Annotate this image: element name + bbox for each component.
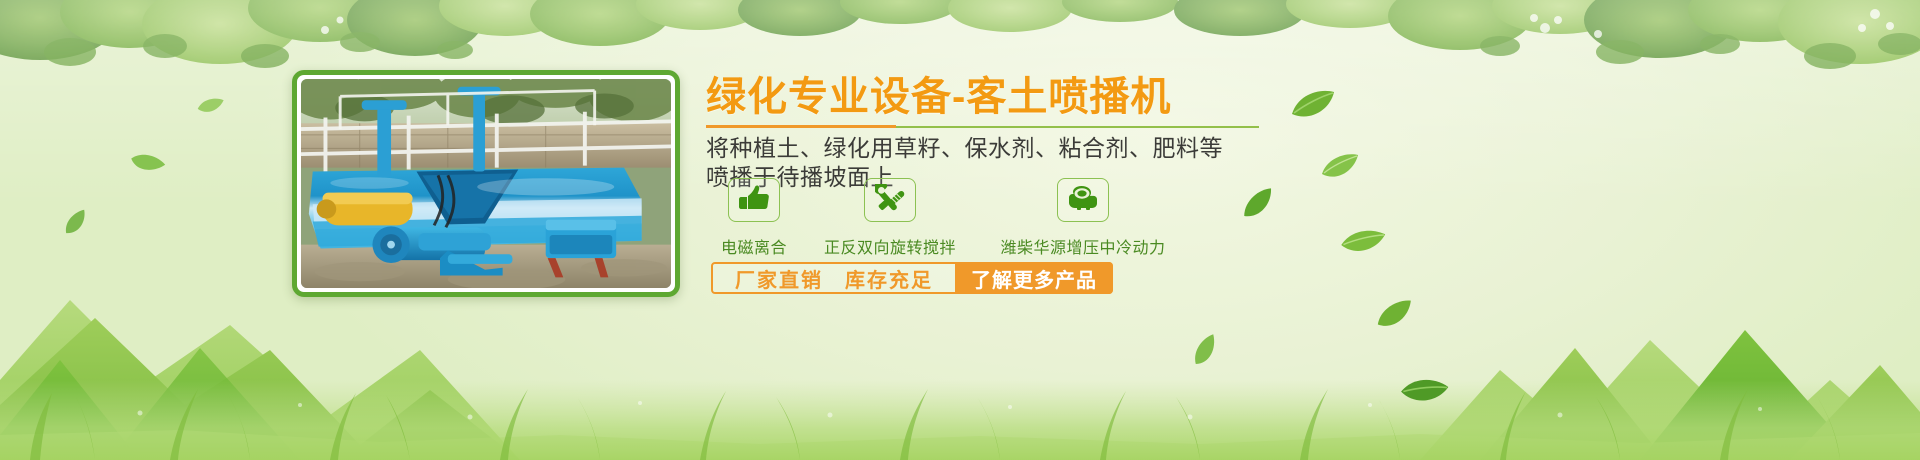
subtitle-line-1: 将种植土、绿化用草籽、保水剂、粘合剂、肥料等 [706,134,1406,163]
learn-more-button[interactable]: 了解更多产品 [955,262,1113,294]
leaf-icon [1373,297,1417,337]
feature-label: 正反双向旋转搅拌 [824,234,956,258]
cta-text-left: 厂家直销 [713,264,845,292]
promo-banner: 绿化专业设备-客土喷播机 将种植土、绿化用草籽、保水剂、粘合剂、肥料等 喷播于待… [0,0,1920,460]
title-divider [706,125,1259,128]
thumbs-up-icon [739,185,769,216]
leaf-icon [1185,332,1230,376]
feature-label: 电磁离合 [721,234,787,258]
feature-item-electromagnetic-clutch: 电磁离合 [706,178,802,258]
feature-list: 电磁离合 正 [706,178,1188,258]
feature-label: 潍柴华源增压中冷动力 [1000,234,1165,258]
cta-bar: 厂家直销 库存充足 了解更多产品 [711,262,1113,294]
divider-green-segment [896,126,1259,128]
leaf-icon [58,207,96,244]
leaf-icon [1394,367,1451,420]
product-photo [301,79,671,288]
leaf-icon [1336,221,1388,268]
tools-icon [875,184,905,217]
leaf-icon [194,94,226,123]
engine-icon [1067,185,1099,216]
feature-icon-box [728,178,780,222]
feature-item-bidirectional-mixing: 正反双向旋转搅拌 [802,178,978,258]
product-photo-frame [292,70,680,297]
cta-text-right: 库存充足 [845,264,955,292]
leaf-icon [122,143,168,189]
grass-decoration [0,355,1920,460]
headline: 绿化专业设备-客土喷播机 [706,74,1406,120]
feature-item-weichai-engine: 潍柴华源增压中冷动力 [978,178,1188,258]
divider-orange-segment [706,125,896,128]
banner-content: 绿化专业设备-客土喷播机 将种植土、绿化用草籽、保水剂、粘合剂、肥料等 喷播于待… [706,74,1406,192]
feature-icon-box [864,178,916,222]
feature-icon-box [1057,178,1109,222]
